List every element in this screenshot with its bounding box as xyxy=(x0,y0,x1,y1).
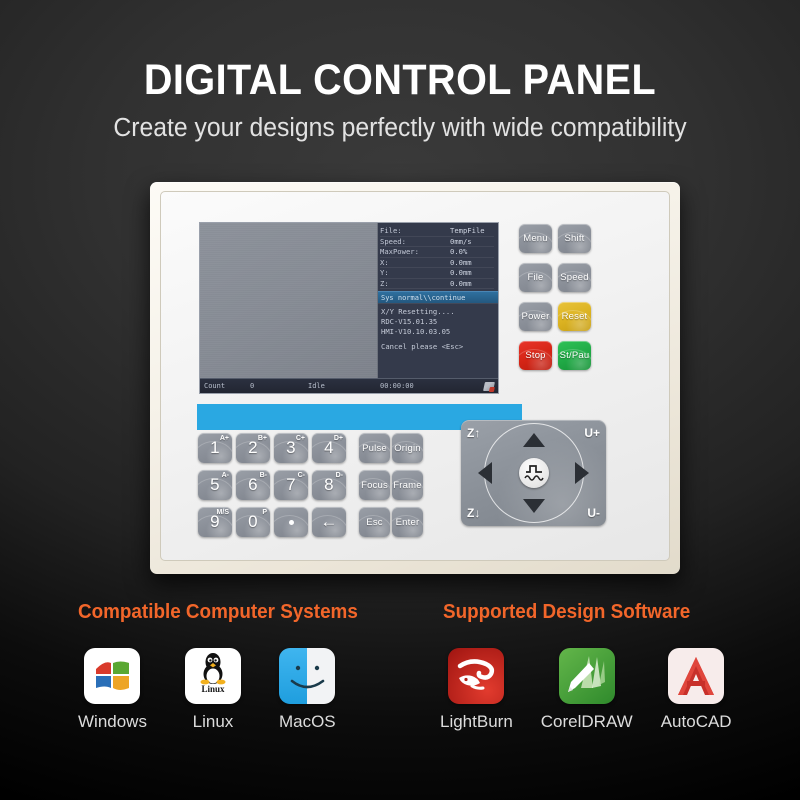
logo-label: LightBurn xyxy=(440,712,513,732)
lcd-parameter-row: File:TempFile xyxy=(380,226,494,237)
key-numeric-4[interactable]: 4D+ xyxy=(312,433,346,463)
device-face: File:TempFileSpeed:0mm/sMaxPower:0.0%X:0… xyxy=(160,191,670,561)
lightburn-dragon-logo-icon xyxy=(448,648,504,704)
key-speed[interactable]: Speed xyxy=(558,263,591,292)
key-numeric-9[interactable]: 9M/S xyxy=(198,507,232,537)
decimal-point-icon xyxy=(289,520,294,525)
autocad-logo-icon xyxy=(668,648,724,704)
lcd-parameter-row: Speed:0mm/s xyxy=(380,237,494,248)
key-frame[interactable]: Frame xyxy=(392,470,423,500)
key-reset[interactable]: Reset xyxy=(558,302,591,331)
logo-label: Linux xyxy=(193,712,234,732)
status-count-value: 0 xyxy=(250,382,308,390)
key-sublabel: B+ xyxy=(258,435,267,442)
key-numeric-←[interactable]: ← xyxy=(312,507,346,537)
status-time: 00:00:00 xyxy=(380,382,414,390)
pulse-waveform-icon[interactable] xyxy=(519,458,549,488)
lcd-parameter-label: Speed: xyxy=(380,238,409,245)
lcd-info-panel: File:TempFileSpeed:0mm/sMaxPower:0.0%X:0… xyxy=(378,223,498,378)
key-label: Reset xyxy=(562,311,588,322)
key-label: Frame xyxy=(393,480,421,491)
key-label: Enter xyxy=(396,517,420,528)
key-sublabel: D- xyxy=(336,472,343,479)
windows-logo-icon xyxy=(84,648,140,704)
key-menu[interactable]: Menu xyxy=(519,224,552,253)
logo-item: LightBurn xyxy=(440,648,513,732)
lcd-parameter-row: X:0.0mm xyxy=(380,258,494,269)
arrow-down-icon[interactable] xyxy=(523,499,545,513)
key-numeric-8[interactable]: 8D- xyxy=(312,470,346,500)
key-label: Stop xyxy=(525,350,545,361)
coreldraw-logo-icon xyxy=(559,648,615,704)
direction-pad[interactable]: Z↑ U+ Z↓ U- xyxy=(461,420,606,526)
key-label: 2 xyxy=(248,438,258,458)
logo-item: AutoCAD xyxy=(661,648,732,732)
key-origin[interactable]: Origin xyxy=(392,433,423,463)
key-label: St/Pau xyxy=(560,350,590,361)
lcd-parameter-row: MaxPower:0.0% xyxy=(380,247,494,258)
key-sublabel: M/S xyxy=(217,509,229,516)
usb-device-icon xyxy=(483,382,495,391)
section-title-software: Supported Design Software xyxy=(443,600,690,624)
page-title: DIGITAL CONTROL PANEL xyxy=(32,58,768,103)
pad-key-u-plus[interactable]: U+ xyxy=(584,426,600,440)
lcd-body: File:TempFileSpeed:0mm/sMaxPower:0.0%X:0… xyxy=(200,223,498,378)
logo-label: CorelDRAW xyxy=(541,712,633,732)
control-panel-device: File:TempFileSpeed:0mm/sMaxPower:0.0%X:0… xyxy=(150,182,680,574)
lcd-parameter-label: File: xyxy=(380,227,405,234)
lcd-graphics-area xyxy=(200,223,378,378)
key-shift[interactable]: Shift xyxy=(558,224,591,253)
key-numeric-2[interactable]: 2B+ xyxy=(236,433,270,463)
arrow-left-icon[interactable] xyxy=(478,462,492,484)
pad-key-u-minus[interactable]: U- xyxy=(587,506,600,520)
lcd-parameter-label: MaxPower: xyxy=(380,248,422,255)
key-label: Origin xyxy=(394,443,421,454)
supported-software-list: LightBurnCorelDRAWAutoCAD xyxy=(440,648,732,732)
arrow-right-icon[interactable] xyxy=(575,462,589,484)
lcd-parameter-list: File:TempFileSpeed:0mm/sMaxPower:0.0%X:0… xyxy=(378,223,498,291)
key-sublabel: C+ xyxy=(296,435,305,442)
lcd-parameter-label: Y: xyxy=(380,269,392,276)
key-label: File xyxy=(527,272,543,283)
key-label: Speed xyxy=(560,272,588,283)
key-label: Menu xyxy=(523,233,548,244)
macos-finder-logo-icon xyxy=(279,648,335,704)
key-label: Shift xyxy=(564,233,584,244)
logo-label: AutoCAD xyxy=(661,712,732,732)
key-label: 0 xyxy=(248,512,258,532)
key-label: Power xyxy=(522,311,550,322)
logo-item: Windows xyxy=(78,648,147,732)
lcd-parameter-row: Y:0.0mm xyxy=(380,268,494,279)
key-label: Pulse xyxy=(362,443,387,454)
key-label: 7 xyxy=(286,475,296,495)
promo-banner: DIGITAL CONTROL PANEL Create your design… xyxy=(0,0,800,800)
lcd-message-box: X/Y Resetting.... RDC-V15.01.35 HMI-V10.… xyxy=(378,303,498,378)
key-numeric-dot[interactable] xyxy=(274,507,308,537)
lcd-parameter-value: 0.0mm xyxy=(450,280,494,287)
logo-item: MacOS xyxy=(279,648,336,732)
lcd-screen: File:TempFileSpeed:0mm/sMaxPower:0.0%X:0… xyxy=(199,222,499,394)
lcd-system-status-bar: Sys normal\\continue xyxy=(378,291,498,303)
logo-item: LinuxLinux xyxy=(185,648,241,732)
key-power[interactable]: Power xyxy=(519,302,552,331)
key-sublabel: C- xyxy=(298,472,305,479)
key-label: 6 xyxy=(248,475,258,495)
section-title-systems: Compatible Computer Systems xyxy=(78,600,358,624)
lcd-parameter-value: 0.0% xyxy=(450,248,494,255)
key-numeric-5[interactable]: 5A- xyxy=(198,470,232,500)
key-esc[interactable]: Esc xyxy=(359,507,390,537)
lcd-message-prompt: Cancel please <Esc> xyxy=(381,342,495,352)
key-st-pau[interactable]: St/Pau xyxy=(558,341,591,370)
header: DIGITAL CONTROL PANEL Create your design… xyxy=(0,58,800,143)
logo-item: CorelDRAW xyxy=(541,648,633,732)
key-sublabel: B- xyxy=(260,472,267,479)
lcd-message-line: HMI-V10.10.03.05 xyxy=(381,327,495,337)
lcd-parameter-value: 0.0mm xyxy=(450,259,494,266)
lcd-parameter-value: 0.0mm xyxy=(450,269,494,276)
status-state: Idle xyxy=(308,382,380,390)
key-sublabel: D+ xyxy=(334,435,343,442)
lcd-parameter-row: Z:0.0mm xyxy=(380,279,494,290)
key-sublabel: A+ xyxy=(220,435,229,442)
key-file[interactable]: File xyxy=(519,263,552,292)
key-stop[interactable]: Stop xyxy=(519,341,552,370)
key-sublabel: P xyxy=(262,509,267,516)
lcd-status-bar: Count 0 Idle 00:00:00 xyxy=(200,378,498,393)
page-subtitle: Create your designs perfectly with wide … xyxy=(12,114,788,143)
lcd-parameter-label: Z: xyxy=(380,280,392,287)
key-label: Esc xyxy=(366,517,382,528)
arrow-up-icon[interactable] xyxy=(523,433,545,447)
lcd-message-line: RDC-V15.01.35 xyxy=(381,317,495,327)
pad-key-z-down[interactable]: Z↓ xyxy=(467,506,480,520)
key-label: 5 xyxy=(210,475,220,495)
key-label: Focus xyxy=(361,480,388,491)
key-label: 1 xyxy=(210,438,220,458)
lcd-parameter-value: TempFile xyxy=(450,227,494,234)
key-label: 8 xyxy=(324,475,334,495)
key-numeric-1[interactable]: 1A+ xyxy=(198,433,232,463)
key-enter[interactable]: Enter xyxy=(392,507,423,537)
status-count-label: Count xyxy=(204,382,250,390)
key-label: 3 xyxy=(286,438,296,458)
compatible-systems-list: WindowsLinuxLinuxMacOS xyxy=(78,648,336,732)
key-label: 4 xyxy=(324,438,334,458)
logo-label: MacOS xyxy=(279,712,336,732)
key-numeric-6[interactable]: 6B- xyxy=(236,470,270,500)
key-focus[interactable]: Focus xyxy=(359,470,390,500)
key-numeric-0[interactable]: 0P xyxy=(236,507,270,537)
key-numeric-3[interactable]: 3C+ xyxy=(274,433,308,463)
key-sublabel: A- xyxy=(222,472,229,479)
key-numeric-7[interactable]: 7C- xyxy=(274,470,308,500)
key-label: ← xyxy=(320,512,337,532)
pad-key-z-up[interactable]: Z↑ xyxy=(467,426,480,440)
lcd-message-line: X/Y Resetting.... xyxy=(381,307,495,317)
lcd-parameter-value: 0mm/s xyxy=(450,238,494,245)
lcd-parameter-label: X: xyxy=(380,259,392,266)
linux-tux-logo-icon: Linux xyxy=(185,648,241,704)
key-pulse[interactable]: Pulse xyxy=(359,433,390,463)
logo-label: Windows xyxy=(78,712,147,732)
